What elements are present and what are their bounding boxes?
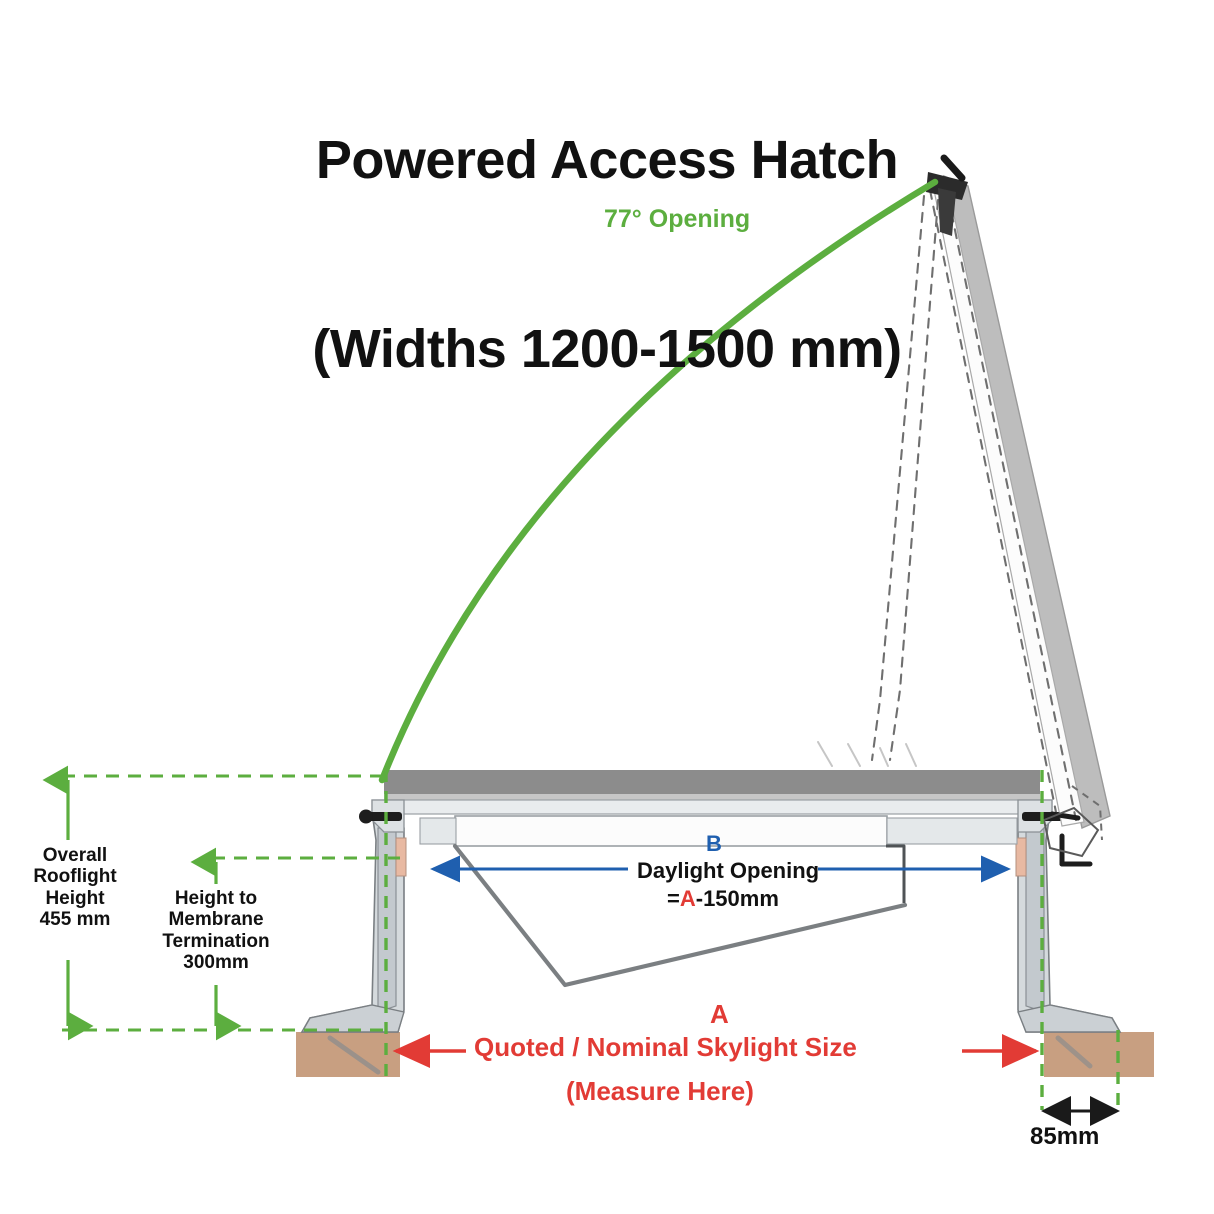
daylight-opening-formula: =A-150mm [667, 887, 779, 912]
diagram-canvas: Powered Access Hatch (Widths 1200-1500 m… [0, 0, 1214, 1214]
title-line-2: (Widths 1200-1500 mm) [0, 319, 1214, 380]
formula-suffix: -150mm [696, 886, 779, 911]
daylight-opening-letter: B [706, 832, 722, 857]
opening-angle-label: 77° Opening [604, 205, 750, 233]
formula-letter-a: A [680, 886, 696, 911]
page-title: Powered Access Hatch (Widths 1200-1500 m… [0, 8, 1214, 502]
title-line-1: Powered Access Hatch [0, 130, 1214, 191]
kerb-width-label: 85mm [1030, 1123, 1099, 1150]
daylight-opening-label: Daylight Opening [637, 859, 819, 884]
nominal-size-label: Quoted / Nominal Skylight Size [474, 1033, 857, 1062]
kerb-left [302, 812, 406, 1032]
formula-prefix: = [667, 886, 680, 911]
membrane-termination-height-label: Height to Membrane Termination 300mm [152, 888, 280, 974]
overall-rooflight-height-label: Overall Rooflight Height 455 mm [16, 845, 134, 931]
kerb-right [1016, 812, 1120, 1032]
actuator-bracket [886, 846, 904, 903]
measure-here-note: (Measure Here) [566, 1077, 754, 1106]
nominal-size-letter: A [710, 1000, 729, 1029]
